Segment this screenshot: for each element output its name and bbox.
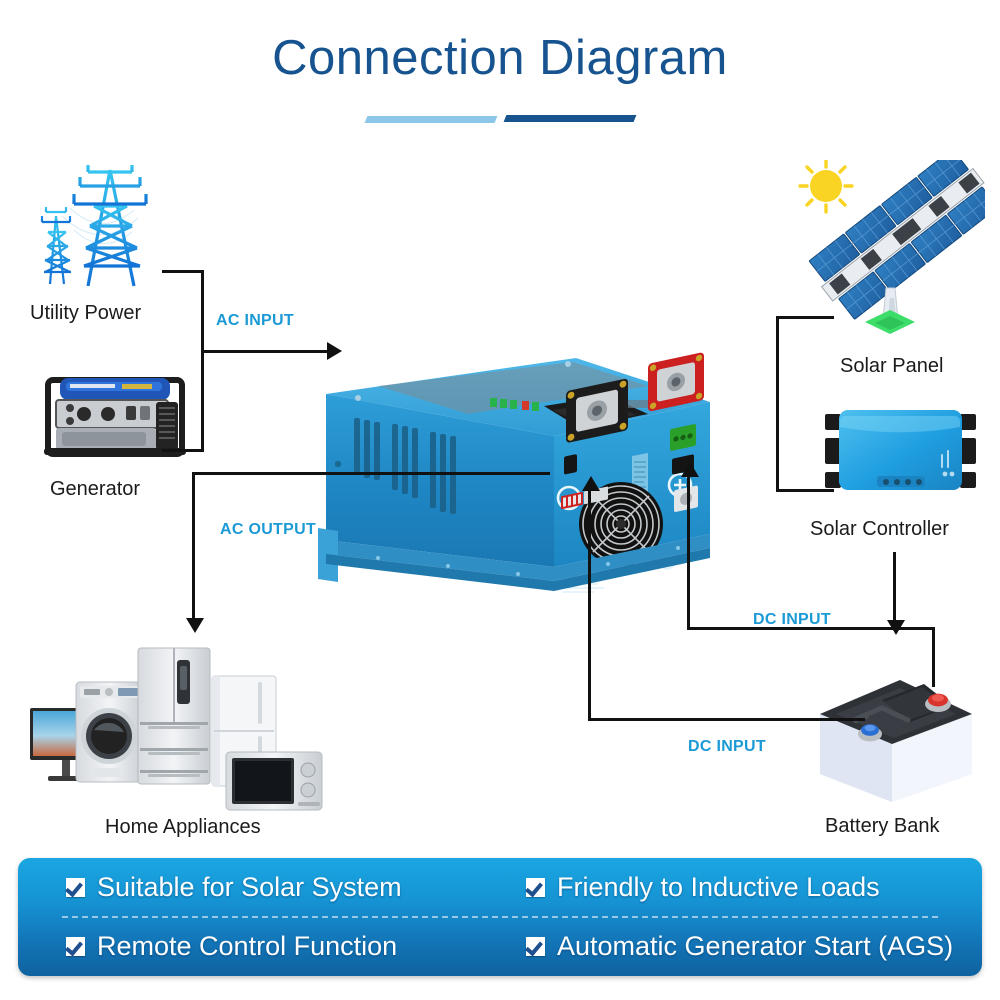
title-underline-left-bar	[365, 116, 498, 123]
feature-divider	[62, 916, 938, 918]
checkbox-icon	[526, 937, 545, 956]
dc-input-label-upper: DC INPUT	[753, 611, 831, 629]
home-appliances-label: Home Appliances	[105, 816, 261, 839]
wire-to-solar-controller	[776, 489, 834, 492]
portable-generator-icon	[40, 362, 190, 462]
checkbox-icon	[526, 878, 545, 897]
wire-positive-vertical	[687, 476, 690, 629]
feature-label: Remote Control Function	[97, 931, 397, 962]
feature-label: Suitable for Solar System	[97, 872, 402, 903]
dc-positive-arrow-icon	[681, 462, 699, 477]
feature-label: Automatic Generator Start (AGS)	[557, 931, 953, 962]
wire-negative-vertical	[588, 490, 591, 720]
power-inverter-icon	[318, 352, 718, 614]
wire-inverter-to-appliances-h	[192, 472, 550, 475]
feature-item-3: Automatic Generator Start (AGS)	[500, 917, 982, 976]
wire-controller-to-battery	[893, 552, 896, 624]
ac-output-label: AC OUTPUT	[220, 521, 316, 539]
feature-item-1: Friendly to Inductive Loads	[500, 858, 982, 917]
utility-power-label: Utility Power	[30, 302, 141, 325]
feature-item-2: Remote Control Function	[18, 917, 500, 976]
wire-ac-input-to-inverter	[201, 350, 329, 353]
battery-bank-label: Battery Bank	[825, 815, 940, 838]
checkbox-icon	[66, 937, 85, 956]
dc-negative-arrow-icon	[582, 476, 600, 491]
wire-ac-input-bus	[201, 270, 204, 452]
connection-diagram-page: Connection Diagram	[0, 0, 1000, 1000]
wire-positive-to-terminal	[932, 627, 935, 687]
wire-inverter-to-appliances-v	[192, 472, 195, 622]
home-appliances-icon	[8, 630, 358, 820]
title-underline	[0, 113, 1000, 127]
battery-icon	[812, 662, 977, 802]
wire-negative-horizontal	[588, 718, 865, 721]
feature-bar: Suitable for Solar System Friendly to In…	[18, 858, 982, 976]
ac-input-label: AC INPUT	[216, 312, 294, 330]
feature-label: Friendly to Inductive Loads	[557, 872, 880, 903]
solar-controller-label: Solar Controller	[810, 518, 949, 541]
checkbox-icon	[66, 878, 85, 897]
title-underline-right-bar	[504, 115, 637, 122]
dc-input-label-lower: DC INPUT	[688, 738, 766, 756]
feature-item-0: Suitable for Solar System	[18, 858, 500, 917]
sun-icon	[800, 160, 852, 212]
wire-utility-to-bus	[162, 270, 204, 273]
wire-solar-panel-down	[776, 316, 834, 319]
solar-panel-label: Solar Panel	[840, 355, 943, 378]
wire-generator-to-bus	[162, 449, 204, 452]
generator-label: Generator	[50, 478, 140, 501]
wire-solar-bracket	[776, 316, 779, 492]
solar-charge-controller-icon	[823, 402, 978, 500]
page-title: Connection Diagram	[0, 30, 1000, 86]
